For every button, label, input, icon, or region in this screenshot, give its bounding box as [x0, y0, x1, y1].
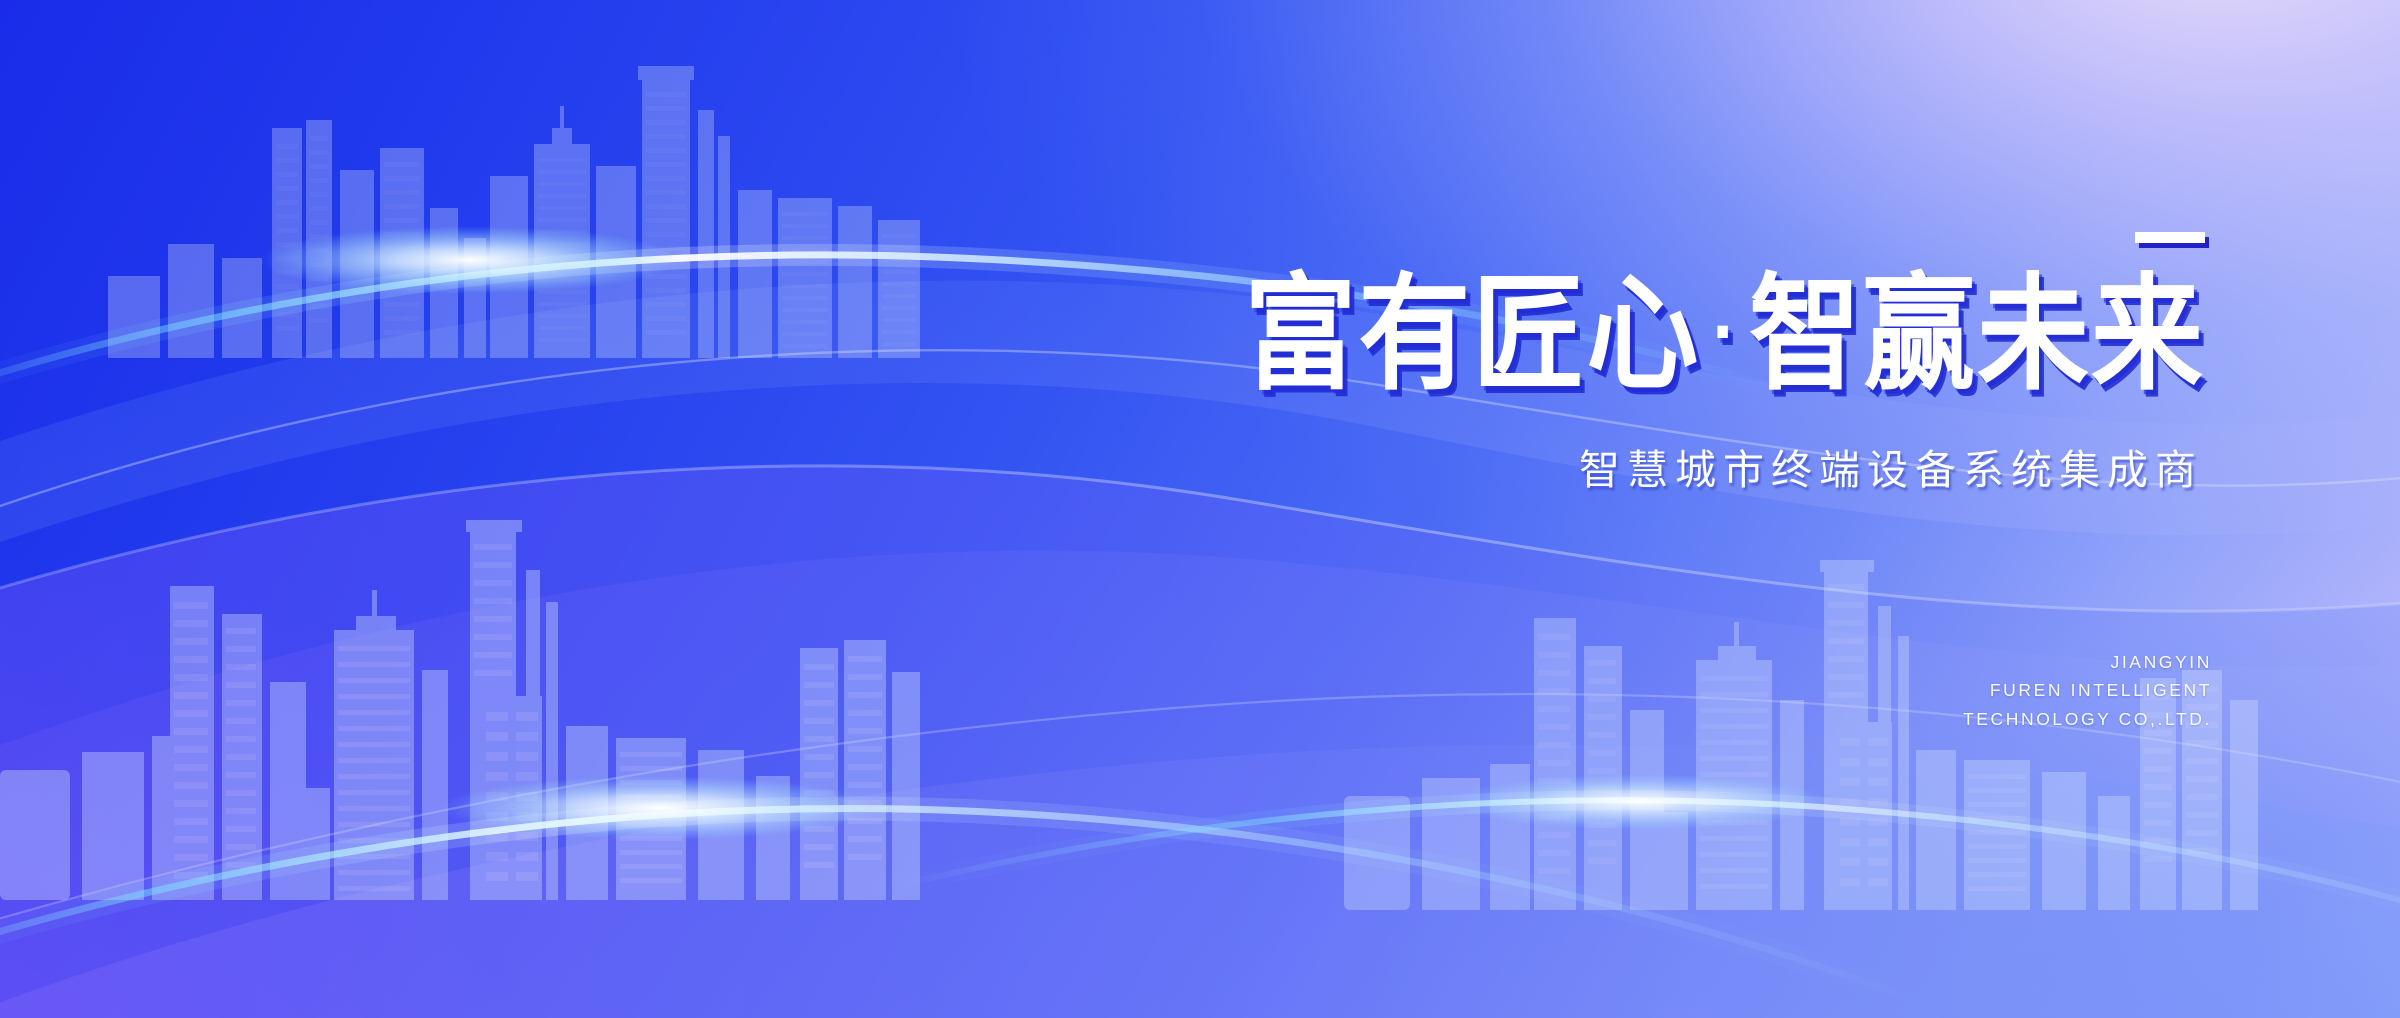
headline-block: 富有匠心·智赢未来 智慧城市终端设备系统集成商 — [955, 232, 2205, 496]
headline-right: 智赢未来 — [1749, 264, 2205, 404]
wave-bands — [0, 0, 2400, 1018]
page-title: 富有匠心·智赢未来 — [955, 270, 2205, 400]
page-subtitle: 智慧城市终端设备系统集成商 — [955, 436, 2205, 496]
headline-separator: · — [1700, 285, 1749, 378]
company-name-line-2: FUREN INTELLIGENT — [1963, 676, 2212, 704]
accent-dash-icon — [2135, 232, 2205, 243]
headline-left: 富有匠心 — [1244, 264, 1700, 404]
company-name-line-3: TECHNOLOGY CO,.LTD. — [1963, 705, 2212, 733]
promotional-banner: 富有匠心·智赢未来 智慧城市终端设备系统集成商 JIANGYIN FUREN I… — [0, 0, 2400, 1018]
company-name-en: JIANGYIN FUREN INTELLIGENT TECHNOLOGY CO… — [1963, 648, 2212, 733]
company-name-line-1: JIANGYIN — [1963, 648, 2212, 676]
